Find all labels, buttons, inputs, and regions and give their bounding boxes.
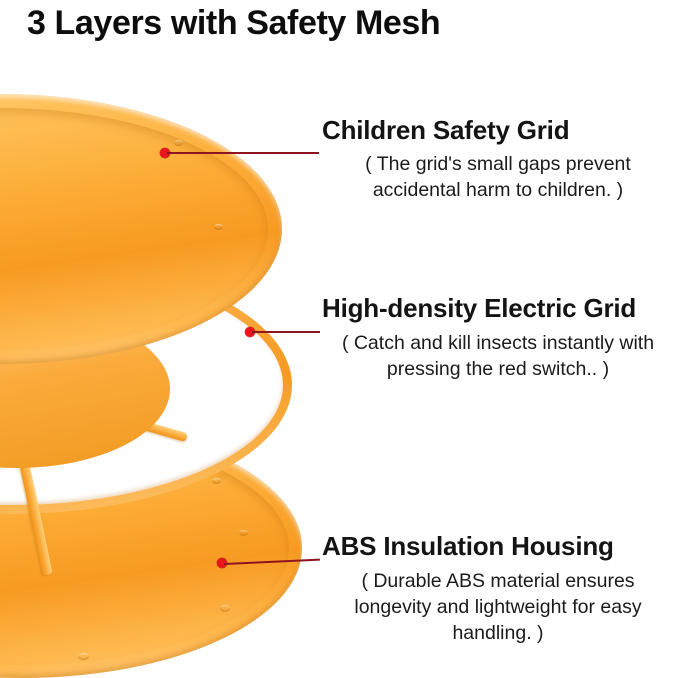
callout-heading-electric-grid: High-density Electric Grid xyxy=(322,293,636,324)
callout-body-children-safety-grid: ( The grid's small gaps prevent accident… xyxy=(322,151,674,203)
callout-body-abs-housing: ( Durable ABS material ensures longevity… xyxy=(322,568,674,646)
callout-leader-electric-grid xyxy=(252,331,320,333)
page-title: 3 Layers with Safety Mesh xyxy=(27,4,440,43)
screw-boss xyxy=(78,653,89,660)
callout-leader-children-safety-grid xyxy=(167,152,319,154)
screw-boss xyxy=(239,530,248,536)
screw-boss xyxy=(214,224,223,230)
screw-boss xyxy=(220,605,230,612)
screw-boss xyxy=(174,140,183,146)
product-illustration xyxy=(0,88,340,648)
callout-body-electric-grid: ( Catch and kill insects instantly with … xyxy=(322,330,674,382)
callout-heading-children-safety-grid: Children Safety Grid xyxy=(322,115,569,146)
screw-boss xyxy=(212,478,221,484)
callout-heading-abs-housing: ABS Insulation Housing xyxy=(322,531,614,562)
